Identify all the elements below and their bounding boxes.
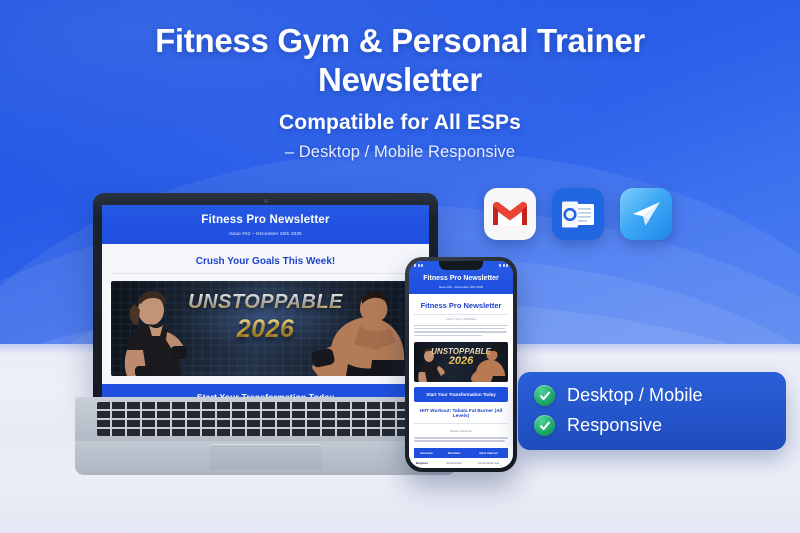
mobile-email-title: Fitness Pro Newsletter [413,275,509,282]
mobile-cta-button[interactable]: Start Your Transformation Today [414,387,508,402]
table-cell-exercise: Burpees [414,458,439,468]
hero-tagline: – Desktop / Mobile Responsive [0,143,800,162]
phone-body: Fitness Pro Newsletter Issue #42 – Decem… [405,257,517,472]
laptop-mockup: Fitness Pro Newsletter Issue #42 – Decem… [93,193,456,418]
mobile-hero-banner: UNSTOPPABLE 2026 [414,342,508,382]
mobile-email-header: Fitness Pro Newsletter Issue #42 – Decem… [409,270,513,294]
desktop-hero-banner: UNSTOPPABLE 2026 [111,281,420,376]
hero-heading-group: Fitness Gym & Personal Trainer Newslette… [0,22,800,162]
feature-label: Desktop / Mobile [567,385,703,406]
feature-label: Responsive [567,415,662,436]
mobile-workout-heading: HIIT Workout: Tabata Fat Burner (All Lev… [414,407,508,424]
desktop-banner-line-2: 2026 [111,315,420,344]
mobile-email-issue: Issue #42 – December 26th 2025 [413,285,509,289]
feature-item-desktop-mobile: Desktop / Mobile [534,385,770,406]
desktop-email-header: Fitness Pro Newsletter Issue #42 – Decem… [102,205,429,244]
hero-subtitle: Compatible for All ESPs [0,111,800,135]
laptop-keyboard [75,397,456,441]
mobile-workout-meta: Tabata // Fat Burner [414,427,508,436]
poster-stage: Fitness Gym & Personal Trainer Newslette… [0,0,800,533]
mobile-banner-text: UNSTOPPABLE 2026 [414,347,508,367]
hero-title: Fitness Gym & Personal Trainer Newslette… [0,22,800,100]
hero-title-line-1: Fitness Gym & Personal Trainer [0,22,800,61]
phone-notch [439,261,483,270]
check-circle-icon [534,385,555,406]
esp-icon-row [484,188,672,240]
mobile-workout-table: Exercise Duration Rest Interval Burpees … [414,448,508,468]
table-cell-duration: 20 seconds [439,458,469,468]
battery-icon [499,264,508,267]
table-header-rest: Rest Interval [469,448,508,458]
table-row: Burpees 20 seconds 10 seconds rest [414,458,508,468]
mobile-body-meta: Crush // Gym // Motivation [414,315,508,324]
desktop-section-heading: Crush Your Goals This Week! [111,251,420,274]
desktop-email-body: Crush Your Goals This Week! [102,244,429,398]
feature-badge-panel: Desktop / Mobile Responsive [518,372,786,450]
spark-mail-icon[interactable] [620,188,672,240]
outlook-icon[interactable] [552,188,604,240]
desktop-banner-line-1: UNSTOPPABLE [111,291,420,314]
desktop-banner-text: UNSTOPPABLE 2026 [111,291,420,344]
phone-mockup: Fitness Pro Newsletter Issue #42 – Decem… [405,257,517,472]
laptop-trackpad [75,441,456,475]
mobile-workout-paragraph [414,436,508,448]
check-circle-icon [534,415,555,436]
table-header-duration: Duration [439,448,469,458]
laptop-lid: Fitness Pro Newsletter Issue #42 – Decem… [93,193,438,403]
laptop-screen: Fitness Pro Newsletter Issue #42 – Decem… [102,205,429,398]
desktop-email-issue: Issue #42 – December 26th 2025 [108,231,423,236]
desktop-cta-button[interactable]: Start Your Transformation Today [102,384,429,398]
phone-screen: Fitness Pro Newsletter Issue #42 – Decem… [409,261,513,468]
table-header-row: Exercise Duration Rest Interval [414,448,508,458]
signal-icon [414,264,423,267]
hero-title-line-2: Newsletter [0,61,800,100]
mobile-email-body: Fitness Pro Newsletter Crush // Gym // M… [409,294,513,469]
gmail-icon[interactable] [484,188,536,240]
table-header-exercise: Exercise [414,448,439,458]
feature-item-responsive: Responsive [534,415,770,436]
mobile-paragraph-placeholder [414,324,508,343]
mobile-banner-line-2: 2026 [414,355,508,367]
desktop-email-title: Fitness Pro Newsletter [108,214,423,226]
mobile-body-heading: Fitness Pro Newsletter [414,299,508,315]
table-cell-rest: 10 seconds rest [469,458,508,468]
